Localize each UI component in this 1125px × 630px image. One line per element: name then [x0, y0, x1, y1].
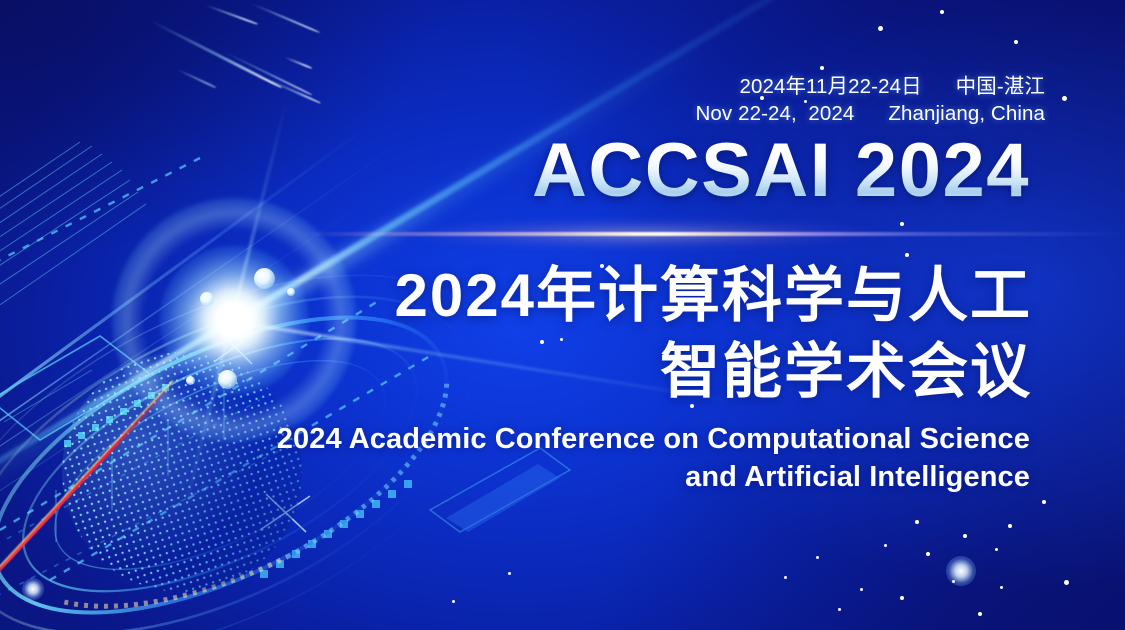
title-cn-line-2: 智能学术会议	[0, 334, 1032, 410]
particle-dot	[1008, 524, 1012, 528]
particle-dot	[915, 520, 919, 524]
date-en: Nov 22-24, 2024	[696, 102, 855, 125]
date-cn: 2024年11月22-24日	[739, 75, 921, 98]
particle-dot	[784, 576, 787, 579]
page-title: ACCSAI 2024	[0, 133, 1030, 209]
particle-dot	[820, 66, 824, 70]
particle-dot	[963, 534, 967, 538]
particle-dot	[1000, 586, 1003, 589]
particle-glow	[22, 578, 44, 600]
subtitle-en-line-1: 2024 Academic Conference on Computationa…	[0, 420, 1030, 458]
particle-dot	[816, 556, 819, 559]
title-cn-line-1: 2024年计算科学与人工	[0, 258, 1032, 334]
particle-dot	[1062, 96, 1067, 101]
particle-dot	[838, 608, 841, 611]
particle-dot	[508, 572, 511, 575]
particle-glow	[946, 556, 976, 586]
conference-subtitle-english: 2024 Academic Conference on Computationa…	[0, 420, 1030, 497]
particle-dot	[995, 548, 998, 551]
meta-row-english: Nov 22-24, 2024Zhanjiang, China	[0, 101, 1045, 128]
conference-meta: 2024年11月22-24日中国-湛江 Nov 22-24, 2024Zhanj…	[0, 74, 1045, 127]
horizontal-light-streak	[300, 232, 1125, 236]
conference-title-chinese: 2024年计算科学与人工 智能学术会议	[0, 258, 1032, 410]
location-cn: 中国-湛江	[956, 75, 1045, 98]
location-en: Zhanjiang, China	[888, 102, 1045, 125]
particle-dot	[452, 600, 455, 603]
particle-dot	[952, 580, 955, 583]
particle-dot	[878, 26, 883, 31]
conference-banner: 2024年11月22-24日中国-湛江 Nov 22-24, 2024Zhanj…	[0, 0, 1125, 630]
subtitle-en-line-2: and Artificial Intelligence	[0, 458, 1030, 496]
particle-dot	[926, 552, 930, 556]
particle-dot	[1014, 40, 1018, 44]
particle-dot	[1064, 580, 1069, 585]
particle-dot	[860, 588, 863, 591]
particle-dot	[900, 222, 904, 226]
particle-dot	[1042, 500, 1046, 504]
particle-dot	[940, 10, 944, 14]
particle-dot	[978, 612, 982, 616]
particle-dot	[905, 253, 909, 257]
meta-row-chinese: 2024年11月22-24日中国-湛江	[0, 74, 1045, 101]
particle-dot	[900, 596, 904, 600]
particle-dot	[884, 544, 887, 547]
